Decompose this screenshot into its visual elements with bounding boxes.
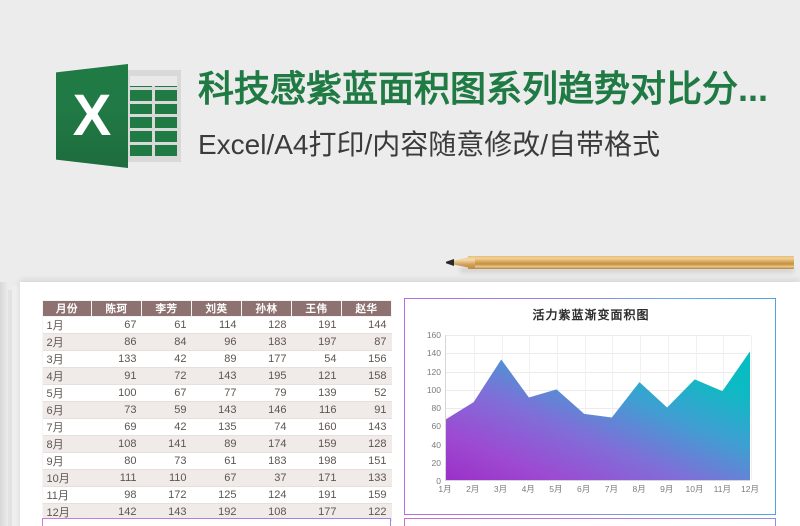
header-banner: X 科技感紫蓝面积图系列趋势对比分... Excel/A4打印/内容随意修改/自… — [0, 0, 800, 200]
chart-plot-area: 020406080100120140160 — [405, 335, 777, 505]
chart-y-tick: 60 — [432, 422, 441, 430]
table-cell-value: 87 — [342, 334, 392, 351]
table-cell-value: 111 — [92, 470, 142, 487]
table-row: 9月807361183198151 — [43, 453, 392, 470]
excel-logo-letter: X — [56, 64, 128, 168]
data-table: 月份 陈珂 李芳 刘英 孙林 王伟 赵华 1月67611141281911442… — [42, 300, 392, 521]
table-row: 6月735914314611691 — [43, 402, 392, 419]
chart-x-tick: 10月 — [686, 483, 704, 495]
table-cell-value: 125 — [192, 487, 242, 504]
table-row: 7月694213574160143 — [43, 419, 392, 436]
table-cell-value: 52 — [342, 385, 392, 402]
table-cell-value: 91 — [342, 402, 392, 419]
table-cell-value: 197 — [292, 334, 342, 351]
chart-x-tick: 4月 — [522, 483, 535, 495]
table-cell-value: 172 — [142, 487, 192, 504]
chart-series-svg — [446, 335, 750, 480]
table-cell-month: 2月 — [43, 334, 92, 351]
table-cell-value: 144 — [342, 317, 392, 334]
table-cell-value: 191 — [292, 317, 342, 334]
table-cell-value: 67 — [92, 317, 142, 334]
table-cell-value: 160 — [292, 419, 342, 436]
table-cell-month: 11月 — [43, 487, 92, 504]
chart-y-tick: 120 — [427, 368, 441, 376]
table-cell-value: 128 — [242, 317, 292, 334]
chart-y-tick: 80 — [432, 404, 441, 412]
table-cell-value: 143 — [192, 368, 242, 385]
screenshot-stage: X 科技感紫蓝面积图系列趋势对比分... Excel/A4打印/内容随意修改/自… — [0, 0, 800, 526]
next-chart-panel-left — [42, 518, 391, 526]
chart-x-tick: 11月 — [714, 483, 731, 495]
table-cell-value: 73 — [92, 402, 142, 419]
chart-x-axis: 1月2月3月4月5月6月7月8月9月10月11月12月 — [445, 483, 750, 499]
table-cell-value: 151 — [342, 453, 392, 470]
table-cell-value: 121 — [292, 368, 342, 385]
table-col-header: 刘英 — [192, 301, 242, 317]
table-cell-value: 100 — [92, 385, 142, 402]
table-body: 1月67611141281911442月868496183197873月1334… — [43, 317, 392, 521]
table-cell-value: 177 — [242, 351, 292, 368]
table-cell-value: 42 — [142, 351, 192, 368]
table-cell-value: 84 — [142, 334, 192, 351]
chart-x-tick: 6月 — [577, 483, 590, 495]
table-cell-value: 54 — [292, 351, 342, 368]
chart-x-tick: 8月 — [632, 483, 645, 495]
chart-x-tick: 5月 — [549, 483, 562, 495]
table-cell-value: 158 — [342, 368, 392, 385]
table-row: 1月6761114128191144 — [43, 317, 392, 334]
table-cell-value: 67 — [192, 470, 242, 487]
table-col-header: 陈珂 — [92, 301, 142, 317]
excel-logo-icon: X — [56, 60, 181, 168]
table-cell-value: 98 — [92, 487, 142, 504]
table-cell-value: 67 — [142, 385, 192, 402]
table-cell-value: 171 — [292, 470, 342, 487]
table-cell-value: 135 — [192, 419, 242, 436]
table-col-header: 月份 — [43, 301, 92, 317]
paper-left-edge — [0, 282, 8, 526]
table-cell-value: 80 — [92, 453, 142, 470]
chart-y-tick: 100 — [427, 386, 441, 394]
table-cell-value: 139 — [292, 385, 342, 402]
table-cell-value: 191 — [292, 487, 342, 504]
table-cell-value: 37 — [242, 470, 292, 487]
table-row: 5月10067777913952 — [43, 385, 392, 402]
table-cell-value: 124 — [242, 487, 292, 504]
table-cell-value: 183 — [242, 334, 292, 351]
table-cell-value: 143 — [192, 402, 242, 419]
table-cell-value: 146 — [242, 402, 292, 419]
table-cell-value: 86 — [92, 334, 142, 351]
table-cell-value: 59 — [142, 402, 192, 419]
table-cell-value: 89 — [192, 351, 242, 368]
table-cell-month: 3月 — [43, 351, 92, 368]
table-cell-value: 72 — [142, 368, 192, 385]
table-cell-value: 143 — [342, 419, 392, 436]
table-row: 2月86849618319787 — [43, 334, 392, 351]
pencil-lead — [446, 259, 454, 266]
table-cell-value: 61 — [142, 317, 192, 334]
table-cell-value: 108 — [92, 436, 142, 453]
table-cell-value: 73 — [142, 453, 192, 470]
excel-logo-grid-top — [130, 76, 177, 86]
chart-y-tick: 40 — [432, 441, 441, 449]
table-cell-value: 89 — [192, 436, 242, 453]
next-chart-panel-right — [404, 518, 776, 526]
table-row: 8月10814189174159128 — [43, 436, 392, 453]
table-cell-month: 8月 — [43, 436, 92, 453]
chart-y-tick: 20 — [432, 459, 441, 467]
table-cell-month: 1月 — [43, 317, 92, 334]
pencil-shaft — [468, 256, 794, 269]
table-cell-value: 79 — [242, 385, 292, 402]
page-title: 科技感紫蓝面积图系列趋势对比分... — [198, 66, 798, 112]
area-chart-panel: 活力紫蓝渐变面积图 020406080100120140160 — [404, 298, 776, 515]
table-cell-value: 133 — [92, 351, 142, 368]
table-cell-month: 5月 — [43, 385, 92, 402]
table-cell-value: 69 — [92, 419, 142, 436]
table-cell-value: 116 — [292, 402, 342, 419]
table-cell-value: 61 — [192, 453, 242, 470]
table-row: 10月1111106737171133 — [43, 470, 392, 487]
excel-logo-grid — [130, 76, 177, 156]
pencil-icon — [446, 252, 794, 274]
table-row: 11月98172125124191159 — [43, 487, 392, 504]
table-cell-month: 4月 — [43, 368, 92, 385]
chart-x-tick: 2月 — [466, 483, 479, 495]
table-col-header: 孙林 — [242, 301, 292, 317]
chart-y-tick: 140 — [427, 349, 441, 357]
table-cell-value: 128 — [342, 436, 392, 453]
chart-x-tick: 3月 — [494, 483, 507, 495]
page-subtitle: Excel/A4打印/内容随意修改/自带格式 — [198, 128, 798, 162]
chart-x-tick: 12月 — [741, 483, 759, 495]
chart-y-axis: 020406080100120140160 — [415, 335, 441, 481]
table-cell-month: 10月 — [43, 470, 92, 487]
table-cell-value: 96 — [192, 334, 242, 351]
table-cell-month: 6月 — [43, 402, 92, 419]
table-col-header: 王伟 — [292, 301, 342, 317]
chart-title: 活力紫蓝渐变面积图 — [405, 306, 777, 323]
table-header-row: 月份 陈珂 李芳 刘英 孙林 王伟 赵华 — [43, 301, 392, 317]
table-cell-value: 174 — [242, 436, 292, 453]
pencil-shadow — [460, 268, 794, 275]
chart-plot — [445, 335, 750, 481]
table-cell-value: 74 — [242, 419, 292, 436]
chart-x-tick: 7月 — [605, 483, 618, 495]
table-row: 3月133428917754156 — [43, 351, 392, 368]
table-cell-value: 110 — [142, 470, 192, 487]
table-col-header: 李芳 — [142, 301, 192, 317]
table-cell-value: 183 — [242, 453, 292, 470]
table-cell-value: 159 — [292, 436, 342, 453]
chart-y-tick: 160 — [427, 331, 441, 339]
table-cell-value: 141 — [142, 436, 192, 453]
table-cell-value: 114 — [192, 317, 242, 334]
table-cell-value: 159 — [342, 487, 392, 504]
table-cell-value: 156 — [342, 351, 392, 368]
data-table-panel: 月份 陈珂 李芳 刘英 孙林 王伟 赵华 1月67611141281911442… — [42, 300, 391, 515]
table-cell-value: 42 — [142, 419, 192, 436]
table-cell-month: 9月 — [43, 453, 92, 470]
table-cell-month: 7月 — [43, 419, 92, 436]
table-col-header: 赵华 — [342, 301, 392, 317]
chart-x-tick: 9月 — [660, 483, 673, 495]
table-row: 4月9172143195121158 — [43, 368, 392, 385]
chart-x-tick: 1月 — [438, 483, 451, 495]
table-cell-value: 195 — [242, 368, 292, 385]
table-cell-value: 198 — [292, 453, 342, 470]
table-cell-value: 91 — [92, 368, 142, 385]
table-cell-value: 133 — [342, 470, 392, 487]
table-cell-value: 77 — [192, 385, 242, 402]
